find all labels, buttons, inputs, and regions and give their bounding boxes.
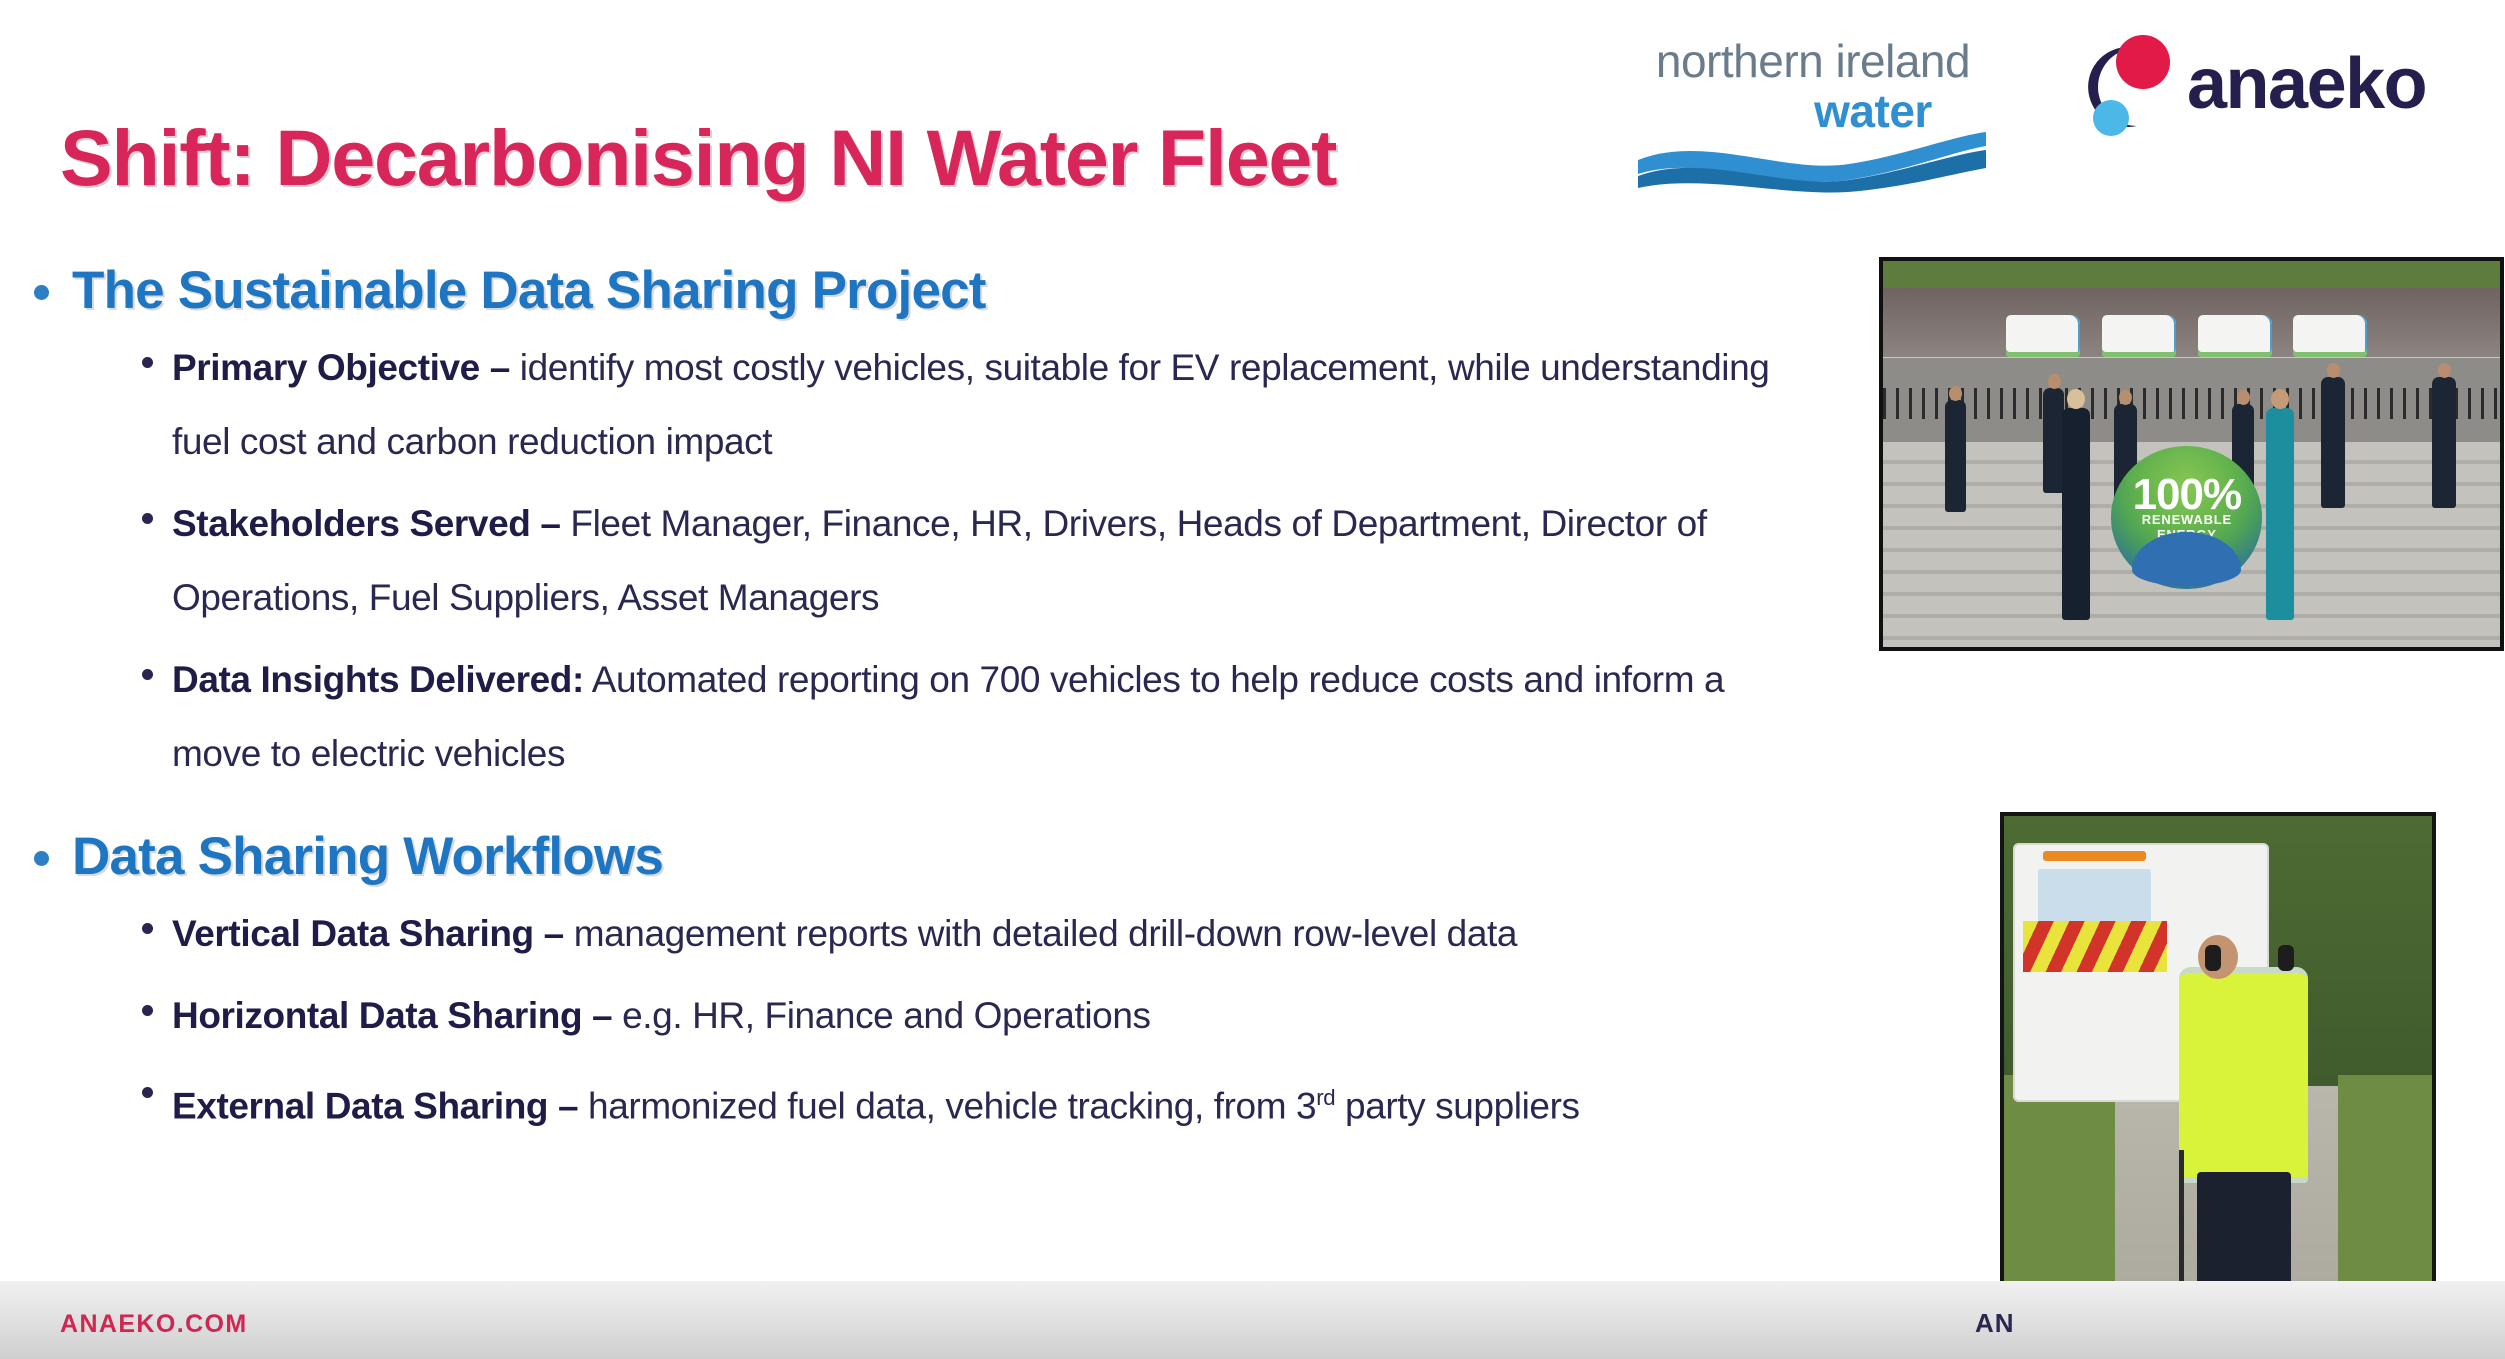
- sub-bullet-dot-icon: [142, 669, 153, 680]
- bullet-label: Data Insights Delivered:: [172, 659, 584, 700]
- ni-water-logo-line1: northern ireland: [1638, 38, 1988, 84]
- section-heading-1-label: The Sustainable Data Sharing Project: [72, 261, 986, 320]
- anaeko-wordmark: anaeko: [2187, 44, 2426, 124]
- list-item: External Data Sharing – harmonized fuel …: [20, 1061, 1810, 1143]
- van-light-bar: [2043, 851, 2146, 861]
- sub-bullet-dot-icon: [142, 923, 153, 934]
- photo-road-band: [1883, 288, 2500, 357]
- slide-title: Shift: Decarbonising NI Water Fleet: [60, 112, 1336, 204]
- list-item: Horizontal Data Sharing – e.g. HR, Finan…: [20, 979, 1810, 1053]
- bullet-body-post: party suppliers: [1335, 1085, 1580, 1126]
- sub-bullet-dot-icon: [142, 1087, 153, 1098]
- person-presenter-left: [2062, 408, 2090, 620]
- sub-bullet-dot-icon: [142, 357, 153, 368]
- sub-bullet-dot-icon: [142, 1005, 153, 1016]
- bullet-label: Horizontal Data Sharing –: [172, 995, 612, 1036]
- bullet-body: management reports with detailed drill-d…: [564, 913, 1517, 954]
- worker-ear-defender: [2205, 945, 2221, 971]
- photo-grass-band: [1883, 261, 2500, 288]
- ni-water-logo-line2: water: [1638, 88, 1988, 134]
- bullet-body-pre: harmonized fuel data, vehicle tracking, …: [578, 1085, 1316, 1126]
- section-heading-1: The Sustainable Data Sharing Project: [20, 259, 1810, 323]
- presentation-slide: northern ireland water anaeko Shift: Dec…: [0, 0, 2505, 1359]
- water-wave-icon: [1634, 130, 1990, 194]
- ni-water-leak-detection-worker-photo: [2000, 812, 2436, 1359]
- badge-headline: 100%: [2111, 473, 2262, 517]
- ni-water-ev-fleet-launch-photo: 100% RENEWABLE ENERGY: [1879, 257, 2504, 651]
- person-presenter-right: [2266, 408, 2294, 620]
- worker-ear-defender: [2278, 945, 2294, 971]
- electric-van: [2198, 315, 2272, 357]
- person: [2321, 377, 2344, 508]
- list-item: Stakeholders Served – Fleet Manager, Fin…: [20, 487, 1810, 635]
- person-head: [2271, 389, 2289, 409]
- person: [2432, 377, 2455, 508]
- bullet-text: External Data Sharing – harmonized fuel …: [172, 1061, 1810, 1143]
- electric-van: [2102, 315, 2176, 357]
- footer-right-text: AN: [1975, 1308, 2015, 1339]
- anaeko-logo: anaeko: [2075, 30, 2425, 140]
- bullet-text: Data Insights Delivered: Automated repor…: [172, 643, 1810, 791]
- electric-van: [2006, 315, 2080, 357]
- photo-railing: [1883, 388, 2500, 419]
- northern-ireland-water-logo: northern ireland water: [1638, 38, 1988, 193]
- anaeko-mark-icon: [2075, 32, 2179, 136]
- section-heading-2: Data Sharing Workflows: [20, 825, 1810, 889]
- bullet-dot-icon: [34, 285, 49, 300]
- section-heading-2-label: Data Sharing Workflows: [72, 827, 663, 886]
- list-item: Primary Objective – identify most costly…: [20, 331, 1810, 479]
- bullet-body: e.g. HR, Finance and Operations: [612, 995, 1150, 1036]
- bullet-label: Primary Objective –: [172, 347, 510, 388]
- list-item: Vertical Data Sharing – management repor…: [20, 897, 1810, 971]
- van-rear-window: [2038, 869, 2151, 926]
- person-head: [2237, 390, 2250, 405]
- bullet-text: Vertical Data Sharing – management repor…: [172, 897, 1810, 971]
- electric-van: [2293, 315, 2367, 357]
- sub-bullet-dot-icon: [142, 513, 153, 524]
- bullet-dot-icon: [34, 851, 49, 866]
- bullet-label: Vertical Data Sharing –: [172, 913, 564, 954]
- person-head: [2327, 363, 2340, 378]
- footer-website-url[interactable]: ANAEKO.COM: [60, 1310, 248, 1339]
- person-head: [2438, 363, 2451, 378]
- van-chevron-markings: [2023, 921, 2167, 973]
- renewable-energy-badge: 100% RENEWABLE ENERGY: [2111, 446, 2262, 589]
- person: [1945, 400, 1966, 512]
- bullet-text: Primary Objective – identify most costly…: [172, 331, 1810, 479]
- slide-body: The Sustainable Data Sharing Project Pri…: [20, 255, 1810, 1143]
- bullet-label: Stakeholders Served –: [172, 503, 561, 544]
- bullet-text: Horizontal Data Sharing – e.g. HR, Finan…: [172, 979, 1810, 1053]
- bullet-label: External Data Sharing –: [172, 1085, 578, 1126]
- slide-footer: ANAEKO.COM AN: [0, 1281, 2505, 1359]
- person-head: [2067, 389, 2085, 409]
- ordinal-suffix: rd: [1316, 1085, 1335, 1110]
- bullet-text: Stakeholders Served – Fleet Manager, Fin…: [172, 487, 1810, 635]
- worker-hi-vis-jacket: [2179, 967, 2307, 1183]
- list-item: Data Insights Delivered: Automated repor…: [20, 643, 1810, 791]
